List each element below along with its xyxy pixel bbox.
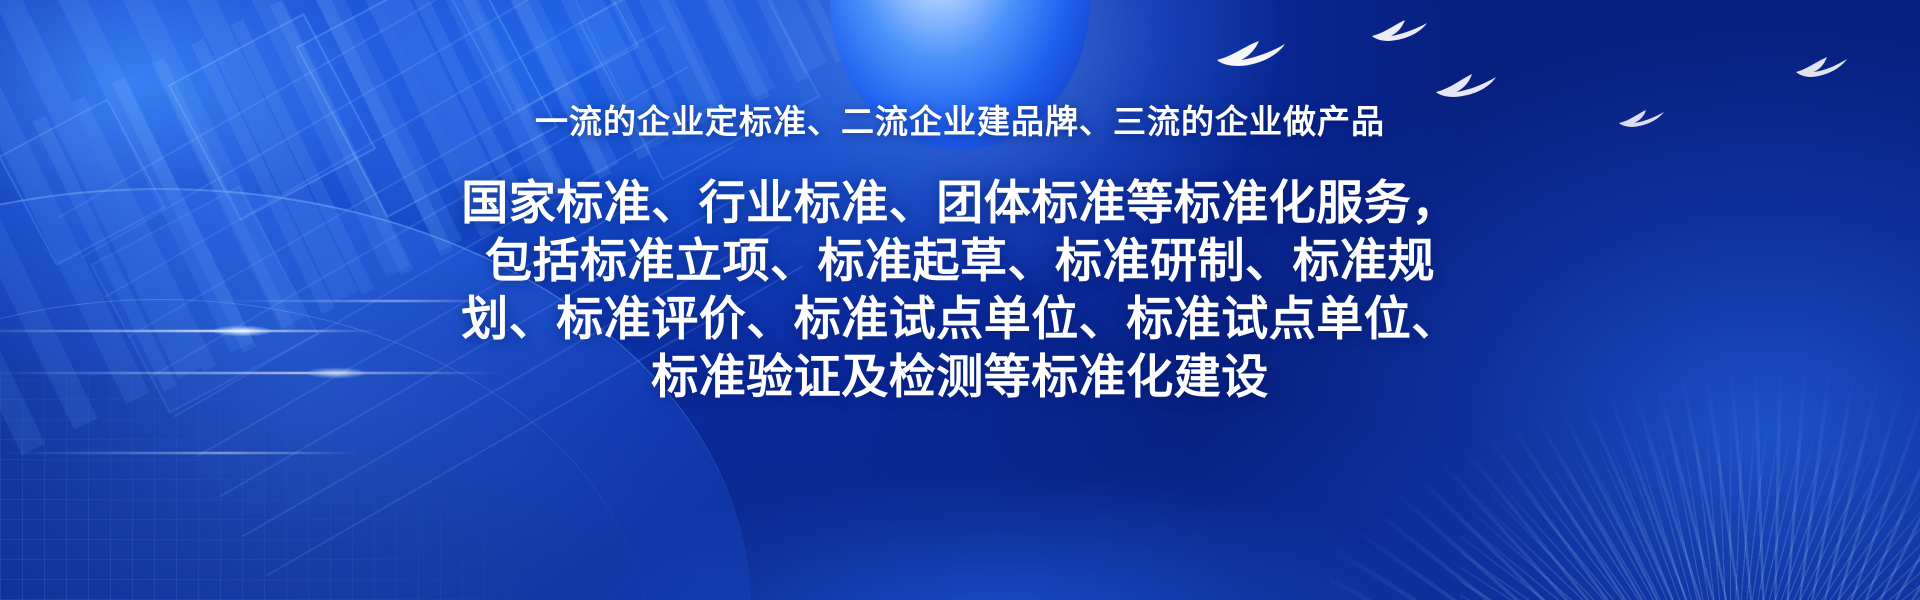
seagull-icon	[1215, 38, 1305, 68]
seagull-icon	[1794, 55, 1860, 79]
banner-subtitle: 一流的企业定标准、二流企业建品牌、三流的企业做产品	[0, 104, 1920, 140]
banner-text-block: 一流的企业定标准、二流企业建品牌、三流的企业做产品 国家标准、行业标准、团体标准…	[0, 104, 1920, 406]
light-streak	[0, 452, 360, 454]
seagull-icon	[1370, 18, 1440, 44]
banner-body-text: 国家标准、行业标准、团体标准等标准化服务，包括标准立项、标准起草、标准研制、标准…	[440, 174, 1480, 406]
seagull-icon	[1434, 72, 1510, 100]
promo-banner: 一流的企业定标准、二流企业建品牌、三流的企业做产品 国家标准、行业标准、团体标准…	[0, 0, 1920, 600]
